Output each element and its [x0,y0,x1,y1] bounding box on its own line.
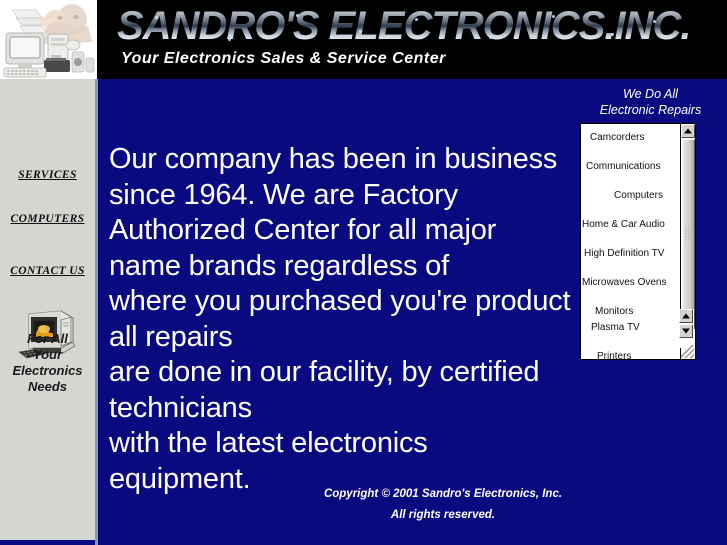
inner-scrollbar-up-button[interactable] [679,309,693,323]
list-item[interactable]: Computers [581,189,681,202]
sidebar-item-contact-us[interactable]: CONTACT US [0,265,95,277]
sparkle-icon [296,14,299,17]
sidebar-item-computers[interactable]: COMPUTERS [0,213,95,225]
repairs-heading: We Do All Electronic Repairs [579,86,722,118]
triangle-up-icon [684,129,692,134]
list-item[interactable]: Monitors [581,305,681,318]
sparkle-icon [155,16,158,19]
triangle-down-icon [682,329,690,334]
company-name-wordmark: SANDRO'S ELECTRONICS.INC. [117,3,717,49]
list-item[interactable]: Camcorders [581,131,681,144]
scrollbar-thumb[interactable] [681,139,695,329]
scrollbar-up-button[interactable] [681,124,695,138]
inner-scrollbar[interactable] [679,309,694,348]
repairs-heading-line-2: Electronic Repairs [579,102,722,118]
copyright-line-2: All rights reserved. [278,505,608,526]
repairs-heading-line-1: We Do All [579,86,722,102]
sparkle-icon [552,15,555,18]
sidebar-tagline-line-4: Needs [0,379,95,395]
list-item[interactable]: Home & Car Audio [581,218,681,231]
triangle-up-icon [682,314,690,319]
sparkle-icon [653,20,656,23]
sparkle-icon [415,18,418,21]
scrollbar-grip-icon [685,226,692,242]
sidebar-item-services[interactable]: SERVICES [0,169,95,181]
sparkle-icon [228,38,231,41]
copyright-notice: Copyright © 2001 Sandro's Electronics, I… [278,484,608,526]
repairs-listbox[interactable]: Camcorders Communications Computers Home… [580,123,696,360]
computer-workstation-photo-icon [0,0,97,79]
list-item[interactable]: Communications [581,160,681,173]
inner-scrollbar-down-button[interactable] [679,324,693,338]
site-header: SANDRO'S ELECTRONICS.INC. Your Electroni… [0,0,727,79]
list-item[interactable]: High Definition TV [581,247,681,260]
list-item[interactable]: Printers [581,350,681,360]
header-photo [0,0,97,79]
site-banner: SANDRO'S ELECTRONICS.INC. Your Electroni… [97,0,727,79]
main-content: Our company has been in business since 1… [98,79,727,545]
list-item[interactable]: Plasma TV [581,321,681,334]
sidebar-tagline: For All Your Electronics Needs [0,331,95,395]
sparkle-icon [489,36,492,39]
sparkle-icon [611,33,614,36]
copyright-line-1: Copyright © 2001 Sandro's Electronics, I… [278,484,608,505]
repairs-list: Camcorders Communications Computers Home… [581,124,681,360]
banner-inner: SANDRO'S ELECTRONICS.INC. Your Electroni… [117,3,717,79]
page-root: SANDRO'S ELECTRONICS.INC. Your Electroni… [0,0,727,545]
resize-grip-icon[interactable] [681,345,694,358]
sparkle-icon [359,30,362,33]
sidebar-tagline-line-2: Your [0,347,95,363]
sidebar: SERVICES COMPUTERS CONTACT US [0,79,95,540]
company-tagline: Your Electronics Sales & Service Center [121,50,717,68]
sidebar-tagline-line-1: For All [0,331,95,347]
list-item[interactable]: Microwaves Ovens [581,276,681,289]
sidebar-tagline-line-3: Electronics [0,363,95,379]
